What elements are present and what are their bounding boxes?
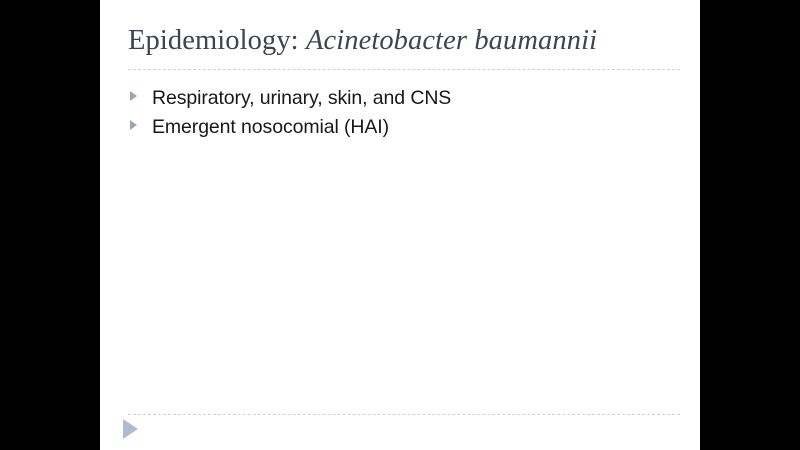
letterbox-right <box>700 0 800 450</box>
slide-viewport: Epidemiology: Acinetobacter baumannii Re… <box>0 0 800 450</box>
slide-title: Epidemiology: Acinetobacter baumannii <box>128 22 688 60</box>
footer-divider <box>128 414 680 415</box>
slide-title-block: Epidemiology: Acinetobacter baumannii <box>128 22 688 60</box>
bullet-marker <box>126 113 152 130</box>
triangle-right-icon <box>130 91 137 101</box>
list-item: Respiratory, urinary, skin, and CNS <box>126 84 686 113</box>
letterbox-left <box>0 0 100 450</box>
bullet-marker <box>126 84 152 101</box>
presentation-slide: Epidemiology: Acinetobacter baumannii Re… <box>100 0 700 450</box>
list-item: Emergent nosocomial (HAI) <box>126 113 686 142</box>
triangle-right-icon[interactable] <box>123 419 138 439</box>
bullet-text: Respiratory, urinary, skin, and CNS <box>152 84 686 112</box>
slide-body-block: Respiratory, urinary, skin, and CNS Emer… <box>126 84 686 142</box>
title-divider <box>128 69 680 70</box>
bullet-text: Emergent nosocomial (HAI) <box>152 113 686 141</box>
triangle-right-icon <box>130 120 137 130</box>
slide-title-prefix: Epidemiology: <box>128 25 299 56</box>
slide-title-species: Acinetobacter baumannii <box>306 25 597 56</box>
